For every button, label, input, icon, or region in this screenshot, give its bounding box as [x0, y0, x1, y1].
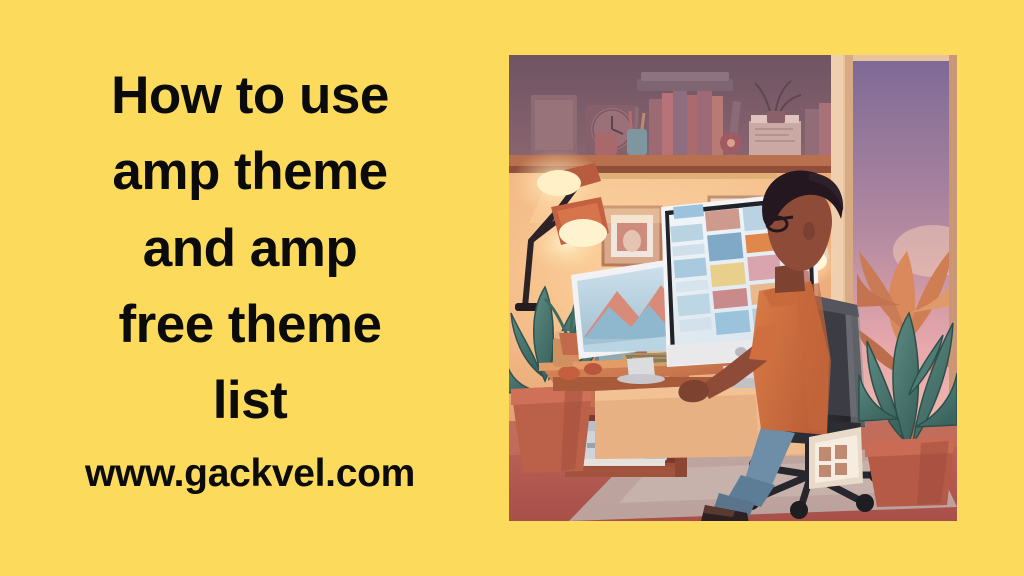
site-url-label: www.gackvel.com — [20, 454, 480, 493]
banner-root: How to use amp theme and amp free theme … — [0, 0, 1024, 576]
illustration-frame — [509, 55, 957, 521]
page-title: How to use amp theme and amp free theme … — [20, 58, 480, 440]
workspace-illustration — [509, 55, 957, 521]
leaning-poster-boards — [809, 427, 863, 489]
text-column: How to use amp theme and amp free theme … — [20, 58, 480, 528]
